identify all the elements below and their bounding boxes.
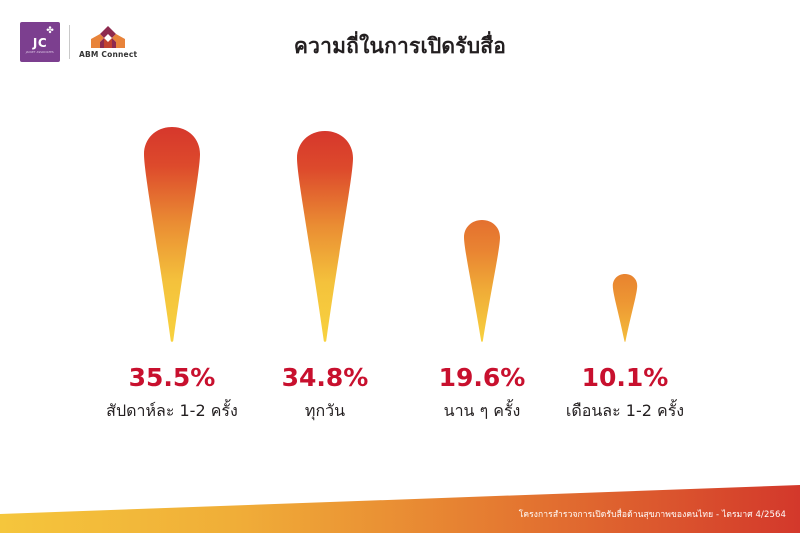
bar-column: 10.1% เดือนละ 1-2 ครั้ง: [545, 110, 705, 430]
teardrop-shape-wrapper: [545, 110, 705, 342]
teardrop-icon: [612, 274, 638, 342]
footer-caption: โครงการสำรวจการเปิดรับสื่อด้านสุขภาพของค…: [519, 507, 786, 521]
teardrop-icon: [463, 220, 501, 342]
value-label: 34.8%: [245, 363, 405, 392]
teardrop-icon: [295, 131, 355, 342]
teardrop-shape-wrapper: [402, 110, 562, 342]
teardrop-icon: [142, 127, 202, 342]
footer-band: โครงการสำรวจการเปิดรับสื่อด้านสุขภาพของค…: [0, 475, 800, 533]
bar-column: 19.6% นาน ๆ ครั้ง: [402, 110, 562, 430]
teardrop-shape-wrapper: [92, 110, 252, 342]
teardrop-shape-wrapper: [245, 110, 405, 342]
header: ✤ JC JACKET ASSOCIATES ABM Connect ความถ…: [0, 0, 800, 92]
page-title: ความถี่ในการเปิดรับสื่อ: [0, 30, 800, 63]
bar-column: 34.8% ทุกวัน: [245, 110, 405, 430]
chart-area: 35.5% สัปดาห์ละ 1-2 ครั้ง 34.8% ทุกวัน: [0, 110, 800, 430]
bar-column: 35.5% สัปดาห์ละ 1-2 ครั้ง: [92, 110, 252, 430]
footer-band-shape: [0, 475, 800, 533]
value-label: 19.6%: [402, 363, 562, 392]
category-label: เดือนละ 1-2 ครั้ง: [525, 399, 725, 424]
value-label: 35.5%: [92, 363, 252, 392]
value-label: 10.1%: [545, 363, 705, 392]
